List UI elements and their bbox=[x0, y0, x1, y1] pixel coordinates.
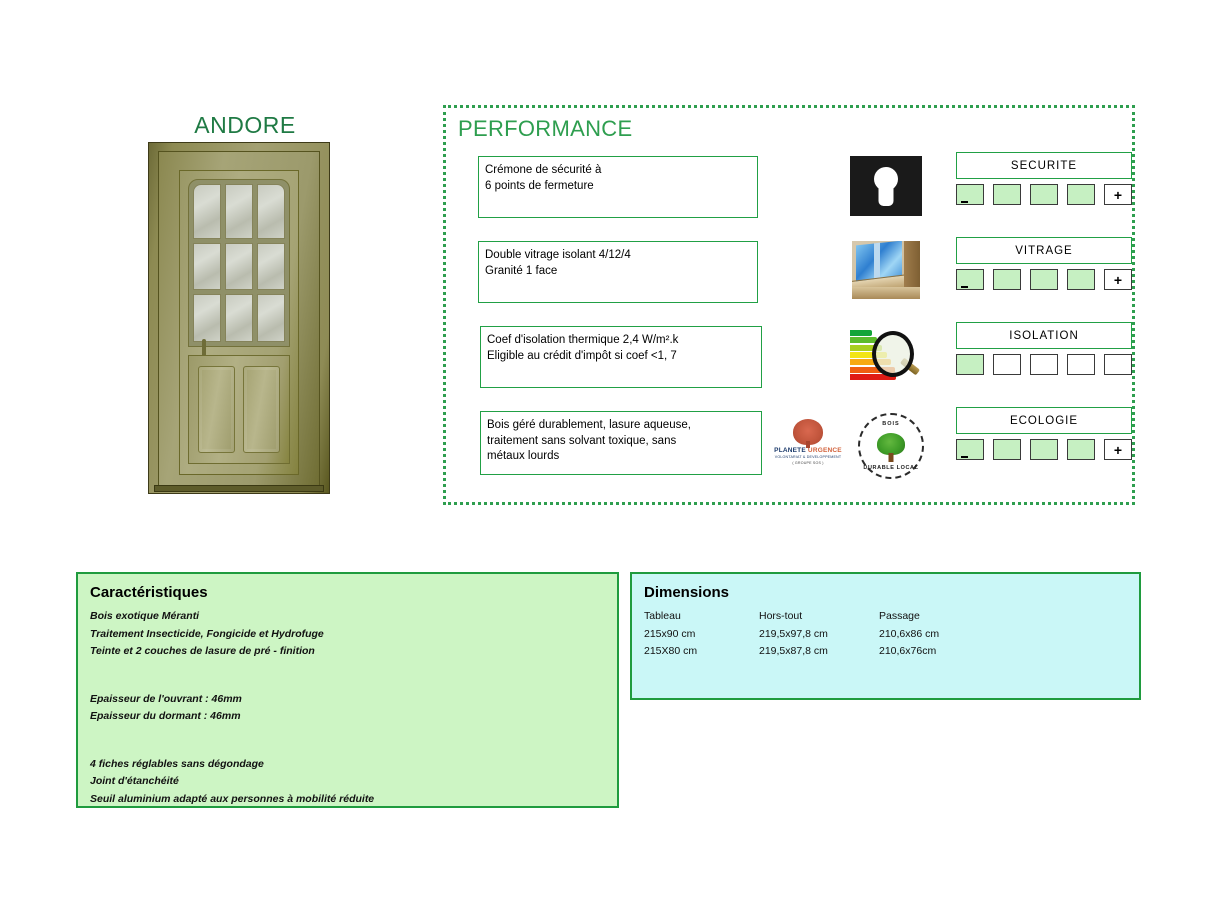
spec-line: Traitement Insecticide, Fongicide et Hyd… bbox=[90, 626, 605, 644]
minus-icon bbox=[961, 456, 968, 459]
glass-pane bbox=[225, 184, 253, 239]
rating-block-securite: SECURITE + bbox=[956, 152, 1132, 205]
spec-line: Teinte et 2 couches de lasure de pré - f… bbox=[90, 643, 605, 661]
scale-box-3[interactable] bbox=[1030, 354, 1058, 375]
page-title: ANDORE bbox=[150, 112, 340, 139]
glazing-base bbox=[852, 287, 920, 299]
eco-logos: PLANETE URGENCE VOLONTARIAT & DEVELOPPEM… bbox=[758, 413, 934, 475]
glass-pane bbox=[257, 294, 285, 342]
icon-slot-ecologie: PLANETE URGENCE VOLONTARIAT & DEVELOPPEM… bbox=[758, 411, 938, 471]
rating-scale-securite[interactable]: + bbox=[956, 184, 1132, 205]
door-lower-panels bbox=[188, 355, 290, 464]
energy-bar bbox=[850, 330, 872, 336]
spec-line: Epaisseur de l'ouvrant : 46mm bbox=[90, 691, 605, 709]
energy-bar bbox=[850, 337, 877, 343]
rating-label-ecologie: ECOLOGIE bbox=[956, 407, 1132, 434]
cell-passage: 210,6x76cm bbox=[879, 643, 1009, 660]
cell-passage: 210,6x86 cm bbox=[879, 626, 1009, 643]
door-outer-frame bbox=[148, 142, 330, 494]
scale-box-3[interactable] bbox=[1030, 184, 1058, 205]
caracteristiques-heading: Caractéristiques bbox=[90, 584, 605, 601]
icon-slot-securite bbox=[846, 156, 926, 216]
scale-box-2[interactable] bbox=[993, 269, 1021, 290]
door-inner-frame bbox=[158, 151, 320, 488]
performance-row-isolation: Coef d'isolation thermique 2,4 W/m².k El… bbox=[458, 326, 1126, 388]
scale-box-2[interactable] bbox=[993, 439, 1021, 460]
scale-box-1[interactable] bbox=[956, 439, 984, 460]
glass-pane bbox=[257, 184, 285, 239]
glass-pane bbox=[257, 243, 285, 291]
description-ecologie: Bois géré durablement, lasure aqueuse, t… bbox=[480, 411, 762, 475]
keyhole-icon bbox=[850, 156, 922, 216]
plus-icon: + bbox=[1114, 273, 1122, 287]
spec-line: Seuil aluminium adapté aux personnes à m… bbox=[90, 791, 605, 809]
rating-label-securite: SECURITE bbox=[956, 152, 1132, 179]
scale-box-1[interactable] bbox=[956, 354, 984, 375]
minus-icon bbox=[961, 286, 968, 289]
planete-urgence-logo: PLANETE URGENCE VOLONTARIAT & DEVELOPPEM… bbox=[768, 419, 848, 465]
rating-scale-isolation[interactable] bbox=[956, 354, 1132, 375]
cell-hors-tout: 219,5x87,8 cm bbox=[759, 643, 879, 660]
rating-block-ecologie: ECOLOGIE + bbox=[956, 407, 1132, 460]
energy-rating-icon bbox=[850, 326, 924, 384]
glass-pane bbox=[225, 294, 253, 342]
spacer bbox=[90, 726, 605, 756]
spacer bbox=[90, 661, 605, 691]
scale-box-4[interactable] bbox=[1067, 354, 1095, 375]
door-photo bbox=[148, 142, 330, 494]
description-vitrage: Double vitrage isolant 4/12/4 Granité 1 … bbox=[478, 241, 758, 303]
table-row: 215x90 cm 219,5x97,8 cm 210,6x86 cm bbox=[644, 626, 1127, 643]
glass-pane bbox=[225, 243, 253, 291]
column-header-passage: Passage bbox=[879, 608, 1009, 625]
tree-trunk bbox=[889, 453, 894, 462]
door-leaf bbox=[179, 170, 299, 475]
performance-row-securite: Crémone de sécurité à 6 points de fermet… bbox=[458, 156, 1126, 218]
rating-label-vitrage: VITRAGE bbox=[956, 237, 1132, 264]
door-glazing-grid bbox=[188, 179, 290, 347]
scale-box-3[interactable] bbox=[1030, 269, 1058, 290]
icon-slot-isolation bbox=[846, 326, 926, 386]
performance-panel: PERFORMANCE Crémone de sécurité à 6 poin… bbox=[443, 105, 1135, 505]
table-row: 215X80 cm 219,5x87,8 cm 210,6x76cm bbox=[644, 643, 1127, 660]
dimensions-panel: Dimensions Tableau Hors-tout Passage 215… bbox=[630, 572, 1141, 700]
rating-scale-vitrage[interactable]: + bbox=[956, 269, 1132, 290]
cell-tableau: 215x90 cm bbox=[644, 626, 759, 643]
scale-box-4[interactable] bbox=[1067, 269, 1095, 290]
stamp-top-text: BOIS bbox=[860, 421, 922, 427]
scale-box-2[interactable] bbox=[993, 354, 1021, 375]
planete-urgence-subtitle: VOLONTARIAT & DEVELOPPEMENT bbox=[768, 455, 848, 460]
table-header-row: Tableau Hors-tout Passage bbox=[644, 608, 1127, 625]
scale-box-5[interactable] bbox=[1104, 354, 1132, 375]
glass-pane bbox=[193, 294, 221, 342]
cell-tableau: 215X80 cm bbox=[644, 643, 759, 660]
stamp-bottom-text: DURABLE LOCAL bbox=[860, 465, 922, 471]
performance-row-vitrage: Double vitrage isolant 4/12/4 Granité 1 … bbox=[458, 241, 1126, 303]
spec-line: Joint d'étanchéité bbox=[90, 773, 605, 791]
description-securite: Crémone de sécurité à 6 points de fermet… bbox=[478, 156, 758, 218]
rating-scale-ecologie[interactable]: + bbox=[956, 439, 1132, 460]
glass-pane bbox=[193, 243, 221, 291]
performance-row-ecologie: Bois géré durablement, lasure aqueuse, t… bbox=[458, 411, 1126, 473]
rating-block-vitrage: VITRAGE + bbox=[956, 237, 1132, 290]
scale-box-1[interactable] bbox=[956, 269, 984, 290]
plus-icon: + bbox=[1114, 188, 1122, 202]
column-header-tableau: Tableau bbox=[644, 608, 759, 625]
keyhole-stem bbox=[879, 184, 894, 206]
scale-box-1[interactable] bbox=[956, 184, 984, 205]
spec-line: Bois exotique Méranti bbox=[90, 608, 605, 626]
scale-box-4[interactable] bbox=[1067, 184, 1095, 205]
tree-icon bbox=[793, 419, 823, 445]
description-isolation: Coef d'isolation thermique 2,4 W/m².k El… bbox=[480, 326, 762, 388]
bois-durable-local-stamp: BOIS DURABLE LOCAL bbox=[858, 413, 924, 479]
planete-urgence-name: PLANETE URGENCE bbox=[768, 447, 848, 455]
magnifier-icon bbox=[872, 331, 914, 377]
spec-line: 4 fiches réglables sans dégondage bbox=[90, 756, 605, 774]
scale-box-5[interactable]: + bbox=[1104, 269, 1132, 290]
logo-word-urgence: URGENCE bbox=[808, 447, 842, 454]
glazing-icon bbox=[852, 241, 920, 299]
scale-box-4[interactable] bbox=[1067, 439, 1095, 460]
glass-pane bbox=[193, 184, 221, 239]
scale-box-3[interactable] bbox=[1030, 439, 1058, 460]
door-threshold bbox=[154, 485, 324, 492]
tree-icon bbox=[877, 433, 905, 455]
plus-icon: + bbox=[1114, 443, 1122, 457]
scale-box-2[interactable] bbox=[993, 184, 1021, 205]
door-panel bbox=[243, 366, 280, 453]
scale-box-5[interactable]: + bbox=[1104, 184, 1132, 205]
icon-slot-vitrage bbox=[846, 241, 926, 301]
rating-label-isolation: ISOLATION bbox=[956, 322, 1132, 349]
minus-icon bbox=[961, 201, 968, 204]
dimensions-heading: Dimensions bbox=[644, 584, 1127, 601]
caracteristiques-panel: Caractéristiques Bois exotique Méranti T… bbox=[76, 572, 619, 808]
rating-block-isolation: ISOLATION bbox=[956, 322, 1132, 375]
planete-urgence-group: ( GROUPE SOS ) bbox=[768, 461, 848, 465]
column-header-hors-tout: Hors-tout bbox=[759, 608, 879, 625]
dimensions-table: Tableau Hors-tout Passage 215x90 cm 219,… bbox=[644, 608, 1127, 660]
performance-title: PERFORMANCE bbox=[458, 116, 632, 142]
spec-line: Epaisseur du dormant : 46mm bbox=[90, 708, 605, 726]
scale-box-5[interactable]: + bbox=[1104, 439, 1132, 460]
door-panel bbox=[198, 366, 235, 453]
cell-hors-tout: 219,5x97,8 cm bbox=[759, 626, 879, 643]
logo-word-planete: PLANETE bbox=[774, 447, 806, 454]
